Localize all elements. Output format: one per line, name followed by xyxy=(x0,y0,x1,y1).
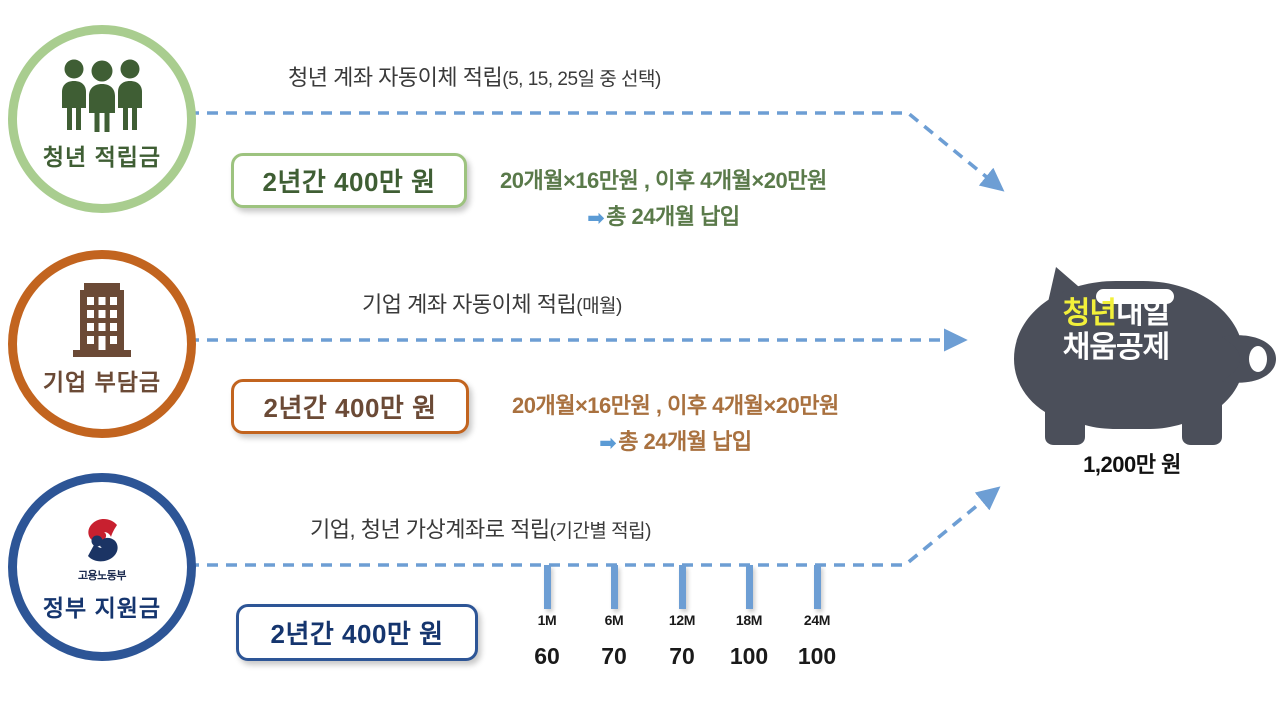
caption-gov: 기업, 청년 가상계좌로 적립(기간별 적립) xyxy=(310,512,651,544)
circle-youth-savings: 청년 적립금 xyxy=(8,25,196,213)
timeline-tick xyxy=(611,565,618,609)
timeline-tick-label: 18M xyxy=(721,612,777,628)
timeline-tick xyxy=(746,565,753,609)
detail-youth: 20개월×16만원 , 이후 4개월×20만원 ➡총 24개월 납입 xyxy=(500,163,827,231)
timeline-tick-value: 100 xyxy=(789,643,845,670)
detail-youth-line1: 20개월×16만원 , 이후 4개월×20만원 xyxy=(500,163,827,195)
caption-youth-main: 청년 계좌 자동이체 적립 xyxy=(288,65,502,90)
caption-corp-paren: (매월) xyxy=(576,296,622,317)
timeline-tick-label: 6M xyxy=(586,612,642,628)
amount-box-corp: 2년간 400만 원 xyxy=(231,379,469,434)
amount-box-gov: 2년간 400만 원 xyxy=(236,604,478,661)
piggy-bank-icon xyxy=(1000,245,1280,460)
circle-corp-label: 기업 부담금 xyxy=(43,363,161,397)
caption-corp-main: 기업 계좌 자동이체 적립 xyxy=(362,292,576,317)
detail-corp-line2: ➡총 24개월 납입 xyxy=(512,424,839,456)
korea-government-taegeuk-icon xyxy=(76,504,128,566)
timeline-tick-label: 24M xyxy=(789,612,845,628)
three-people-icon xyxy=(54,54,150,132)
circle-gov-label: 정부 지원금 xyxy=(43,589,161,623)
timeline-tick-value: 100 xyxy=(721,643,777,670)
building-icon xyxy=(69,279,135,357)
piggy-bank-group: 청년내일 채움공제 xyxy=(1000,245,1280,475)
amount-box-youth: 2년간 400만 원 xyxy=(231,153,467,208)
timeline-tick-label: 1M xyxy=(519,612,575,628)
timeline-tick-value: 70 xyxy=(654,643,710,670)
detail-corp-line1: 20개월×16만원 , 이후 4개월×20만원 xyxy=(512,388,839,420)
caption-youth-paren: (5, 15, 25일 중 선택) xyxy=(502,69,661,90)
piggy-total-amount: 1,200만 원 xyxy=(1012,447,1252,479)
circle-youth-label: 청년 적립금 xyxy=(43,138,161,172)
circle-government-subsidy: 고용노동부 정부 지원금 xyxy=(8,473,196,661)
timeline-tick xyxy=(544,565,551,609)
timeline-tick-value: 70 xyxy=(586,643,642,670)
caption-gov-main: 기업, 청년 가상계좌로 적립 xyxy=(310,517,550,542)
caption-gov-paren: (기간별 적립) xyxy=(550,521,651,542)
caption-corp: 기업 계좌 자동이체 적립(매월) xyxy=(362,287,622,319)
detail-corp-line2-text: 총 24개월 납입 xyxy=(618,429,751,454)
detail-youth-line2-text: 총 24개월 납입 xyxy=(606,204,739,229)
detail-youth-line2: ➡총 24개월 납입 xyxy=(500,199,827,231)
right-arrow-icon: ➡ xyxy=(587,206,604,231)
ministry-label: 고용노동부 xyxy=(78,567,126,583)
infographic-canvas: 청년 적립금 청년 계좌 자동이체 적립(5, 15, 25일 중 선택) 2년… xyxy=(0,0,1280,715)
timeline-tick-value: 60 xyxy=(519,643,575,670)
timeline-tick-label: 12M xyxy=(654,612,710,628)
timeline-tick xyxy=(679,565,686,609)
circle-corporate-contribution: 기업 부담금 xyxy=(8,250,196,438)
caption-youth: 청년 계좌 자동이체 적립(5, 15, 25일 중 선택) xyxy=(288,60,661,92)
timeline-tick xyxy=(814,565,821,609)
right-arrow-icon: ➡ xyxy=(599,431,616,456)
detail-corp: 20개월×16만원 , 이후 4개월×20만원 ➡총 24개월 납입 xyxy=(512,388,839,456)
